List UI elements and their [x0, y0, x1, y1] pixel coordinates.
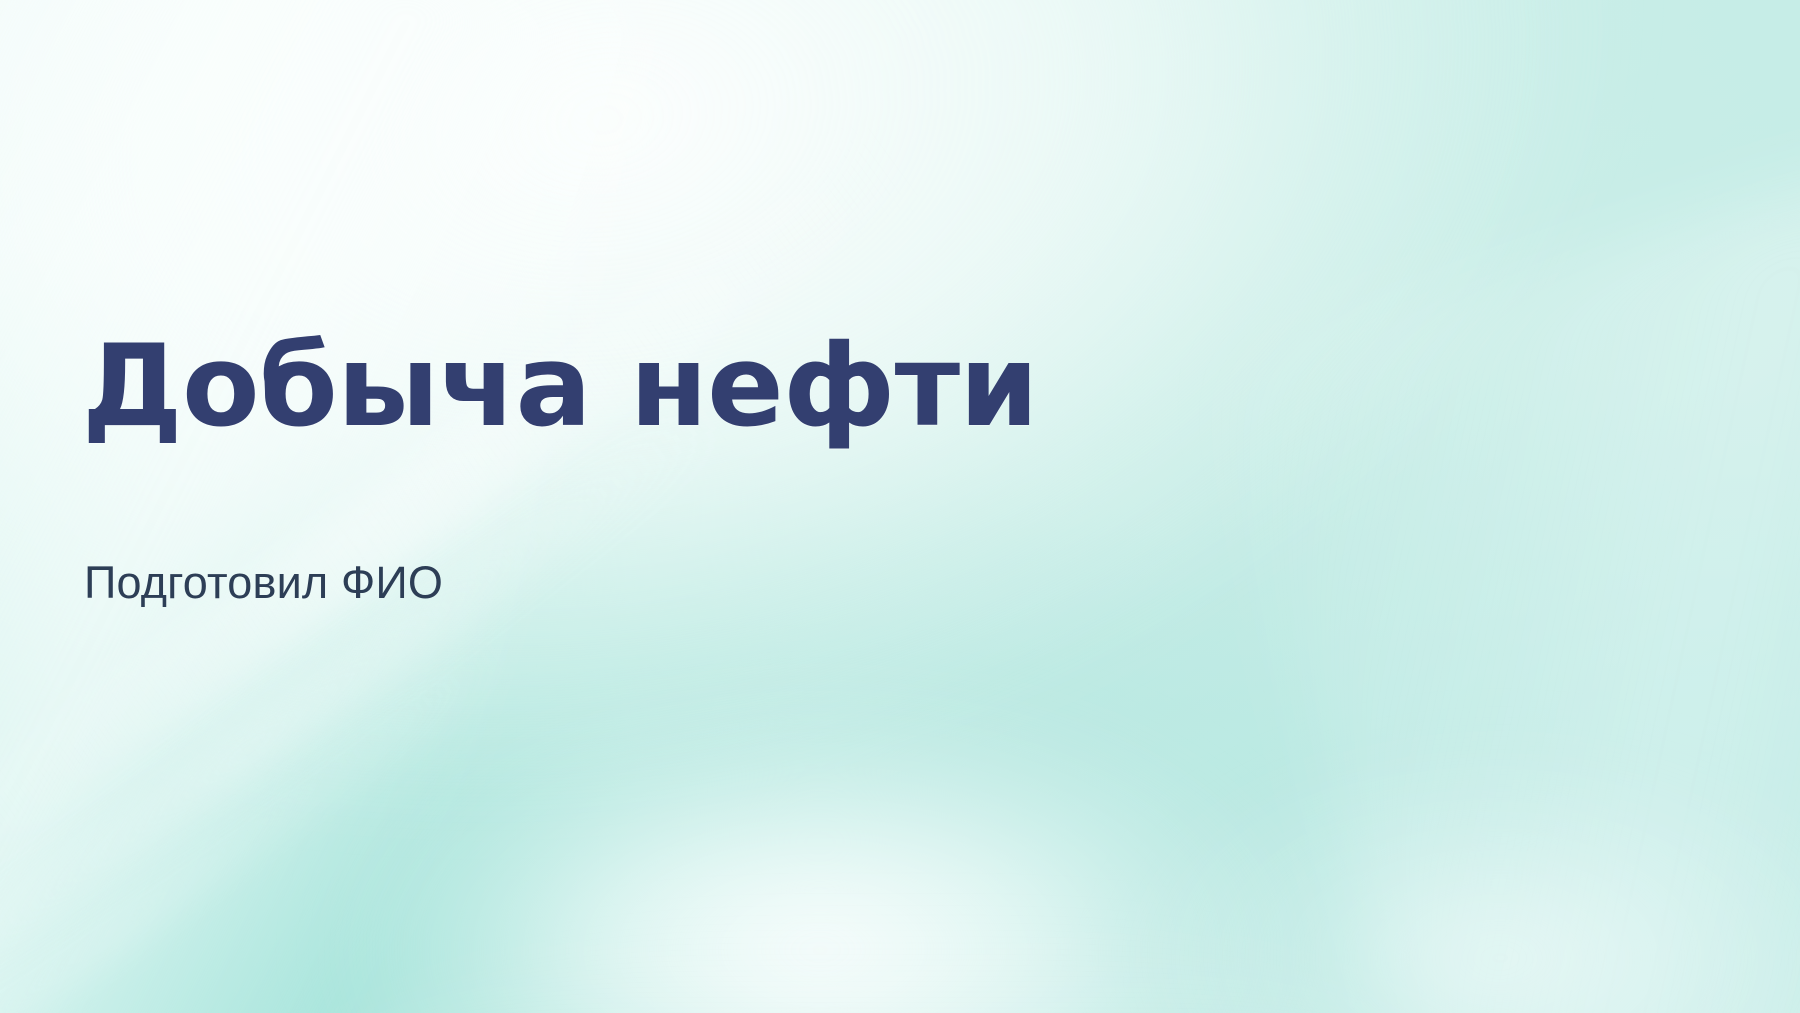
title-slide: Добыча нефти Подготовил ФИО [0, 0, 1800, 1013]
slide-title: Добыча нефти [82, 330, 1038, 443]
slide-subtitle: Подготовил ФИО [84, 560, 443, 605]
slide-text-block: Добыча нефти Подготовил ФИО [82, 0, 1682, 1013]
